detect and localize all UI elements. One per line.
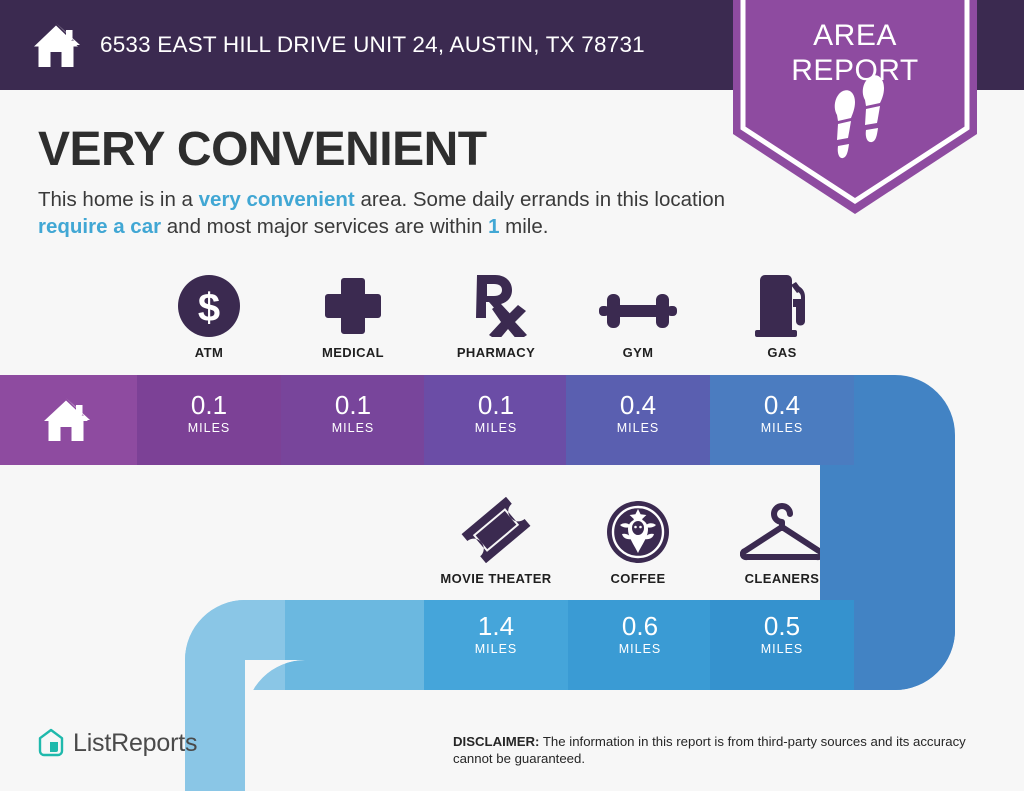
category-label: MEDICAL bbox=[281, 345, 425, 360]
category-label: GYM bbox=[566, 345, 710, 360]
segment-gas bbox=[710, 370, 854, 470]
dumbbell-icon bbox=[566, 275, 710, 337]
summary-highlight-1: very convenient bbox=[199, 188, 355, 211]
summary-part-4: mile. bbox=[499, 215, 548, 238]
summary-part-1: This home is in a bbox=[38, 188, 199, 211]
category-label: GAS bbox=[710, 345, 854, 360]
segment-row1-tail bbox=[854, 370, 1024, 470]
segment-atm bbox=[137, 370, 281, 470]
segment-cleaners bbox=[710, 590, 854, 700]
segment-gym bbox=[566, 370, 710, 470]
dollar-circle-icon: $ bbox=[137, 275, 281, 337]
category-atm: $ ATM bbox=[137, 275, 281, 360]
segment-medical bbox=[281, 370, 424, 470]
house-icon bbox=[30, 19, 82, 71]
summary-text: This home is in a very convenient area. … bbox=[38, 186, 728, 240]
svg-text:$: $ bbox=[198, 286, 220, 330]
category-medical: MEDICAL bbox=[281, 275, 425, 360]
segment-row2-tail bbox=[854, 590, 974, 700]
area-report-banner: AREA REPORT bbox=[733, 0, 977, 214]
ribbon-row-1 bbox=[0, 370, 1024, 470]
segment-movie bbox=[424, 590, 568, 700]
category-gas: GAS bbox=[710, 275, 854, 360]
medical-cross-icon bbox=[281, 275, 425, 337]
summary-part-2: area. Some daily errands in this locatio… bbox=[355, 188, 725, 211]
disclaimer-label: DISCLAIMER: bbox=[453, 734, 539, 749]
property-address: 6533 EAST HILL DRIVE UNIT 24, AUSTIN, TX… bbox=[100, 32, 645, 58]
category-gym: GYM bbox=[566, 275, 710, 360]
category-label: PHARMACY bbox=[424, 345, 568, 360]
brand-logo: ListReports bbox=[38, 728, 197, 758]
ribbon-row-2 bbox=[170, 590, 974, 700]
summary-highlight-2: require a car bbox=[38, 215, 161, 238]
segment-pharmacy bbox=[424, 370, 566, 470]
category-pharmacy: PHARMACY bbox=[424, 275, 568, 360]
gas-pump-icon bbox=[710, 275, 854, 337]
segment-coffee bbox=[568, 590, 710, 700]
segment-row2-lead2 bbox=[285, 590, 424, 700]
brand-name: ListReports bbox=[73, 729, 197, 758]
pennant-shape bbox=[733, 0, 977, 214]
listreports-house-icon bbox=[38, 728, 64, 758]
disclaimer: DISCLAIMER: The information in this repo… bbox=[453, 733, 998, 767]
house-icon bbox=[40, 396, 92, 442]
page-title: VERY CONVENIENT bbox=[38, 122, 487, 177]
rx-icon bbox=[424, 275, 568, 337]
summary-highlight-3: 1 bbox=[488, 215, 499, 238]
summary-part-3: and most major services are within bbox=[161, 215, 488, 238]
category-label: ATM bbox=[137, 345, 281, 360]
